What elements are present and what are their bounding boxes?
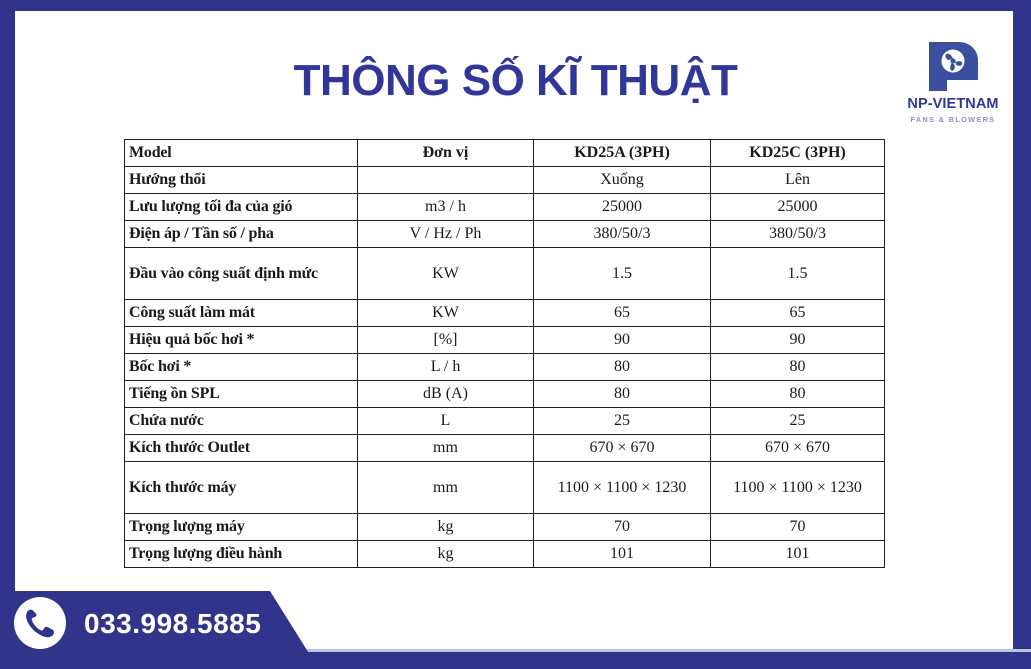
cell-kd25a: 670 × 670 [534,435,711,462]
cell-kd25a: 1100 × 1100 × 1230 [534,462,711,514]
cell-label: Điện áp / Tần số / pha [125,221,358,248]
cell-label: Trọng lượng máy [125,514,358,541]
table-row: Bốc hơi *L / h8080 [125,354,885,381]
col-header-model: Model [125,140,358,167]
table-row: Công suất làm mátKW6565 [125,300,885,327]
cell-kd25c: 670 × 670 [711,435,885,462]
frame-border-top [0,0,1031,11]
spec-table-container: Model Đơn vị KD25A (3PH) KD25C (3PH) Hướ… [124,139,884,568]
cell-kd25a: Xuống [534,167,711,194]
cell-label: Tiếng ồn SPL [125,381,358,408]
cell-unit: kg [358,541,534,568]
cell-kd25a: 70 [534,514,711,541]
page-title: THÔNG SỐ KĨ THUẬT [0,56,1031,106]
phone-number[interactable]: 033.998.5885 [84,608,261,640]
cell-kd25a: 25000 [534,194,711,221]
cell-label: Bốc hơi * [125,354,358,381]
cell-kd25a: 101 [534,541,711,568]
cell-kd25a: 90 [534,327,711,354]
table-row: Chứa nướcL2525 [125,408,885,435]
cell-label: Công suất làm mát [125,300,358,327]
cell-unit: m3 / h [358,194,534,221]
cell-kd25c: 1100 × 1100 × 1230 [711,462,885,514]
cell-kd25c: Lên [711,167,885,194]
table-row: Đầu vào công suất định mứcKW1.51.5 [125,248,885,300]
cell-label: Kích thước Outlet [125,435,358,462]
spec-table-body: Hướng thổiXuốngLênLưu lượng tối đa của g… [125,167,885,568]
cell-kd25c: 25 [711,408,885,435]
table-row: Trọng lượng máykg7070 [125,514,885,541]
brand-tagline: FANS & BLOWERS [884,115,1022,124]
table-row: Điện áp / Tần số / phaV / Hz / Ph380/50/… [125,221,885,248]
cell-label: Trọng lượng điều hành [125,541,358,568]
cell-label: Chứa nước [125,408,358,435]
col-header-kd25a: KD25A (3PH) [534,140,711,167]
cell-kd25a: 1.5 [534,248,711,300]
cell-label: Lưu lượng tối đa của gió [125,194,358,221]
cell-unit: dB (A) [358,381,534,408]
table-row: Tiếng ồn SPLdB (A)8080 [125,381,885,408]
cell-kd25a: 380/50/3 [534,221,711,248]
table-row: Kích thước Outletmm670 × 670670 × 670 [125,435,885,462]
cell-unit: KW [358,248,534,300]
cell-kd25c: 70 [711,514,885,541]
cell-unit: kg [358,514,534,541]
cell-unit: mm [358,435,534,462]
cell-kd25c: 80 [711,354,885,381]
table-row: Trọng lượng điều hànhkg101101 [125,541,885,568]
cell-unit: mm [358,462,534,514]
cell-label: Hướng thổi [125,167,358,194]
cell-label: Kích thước máy [125,462,358,514]
cell-kd25a: 25 [534,408,711,435]
cell-kd25c: 380/50/3 [711,221,885,248]
cell-unit [358,167,534,194]
specification-table: Model Đơn vị KD25A (3PH) KD25C (3PH) Hướ… [124,139,885,568]
np-vietnam-fan-logo-icon [925,40,981,93]
cell-unit: KW [358,300,534,327]
cell-label: Hiệu quả bốc hơi * [125,327,358,354]
cell-kd25c: 101 [711,541,885,568]
table-row: Kích thước máymm1100 × 1100 × 12301100 ×… [125,462,885,514]
table-row: Lưu lượng tối đa của gióm3 / h2500025000 [125,194,885,221]
cell-kd25c: 90 [711,327,885,354]
phone-icon[interactable] [14,597,66,649]
cell-kd25a: 80 [534,381,711,408]
cell-kd25a: 80 [534,354,711,381]
cell-unit: L / h [358,354,534,381]
cell-unit: V / Hz / Ph [358,221,534,248]
cell-kd25c: 65 [711,300,885,327]
table-row: Hiệu quả bốc hơi *[%]9090 [125,327,885,354]
cell-kd25c: 80 [711,381,885,408]
cell-unit: [%] [358,327,534,354]
table-header-row: Model Đơn vị KD25A (3PH) KD25C (3PH) [125,140,885,167]
col-header-unit: Đơn vị [358,140,534,167]
brand-logo: NP-VIETNAM FANS & BLOWERS [884,40,1022,124]
table-row: Hướng thổiXuốngLên [125,167,885,194]
cell-unit: L [358,408,534,435]
cell-label: Đầu vào công suất định mức [125,248,358,300]
poster-root: THÔNG SỐ KĨ THUẬT NP-VIETNAM FANS & BLOW… [0,0,1031,669]
cell-kd25a: 65 [534,300,711,327]
cell-kd25c: 1.5 [711,248,885,300]
cell-kd25c: 25000 [711,194,885,221]
col-header-kd25c: KD25C (3PH) [711,140,885,167]
brand-name: NP-VIETNAM [884,97,1022,113]
